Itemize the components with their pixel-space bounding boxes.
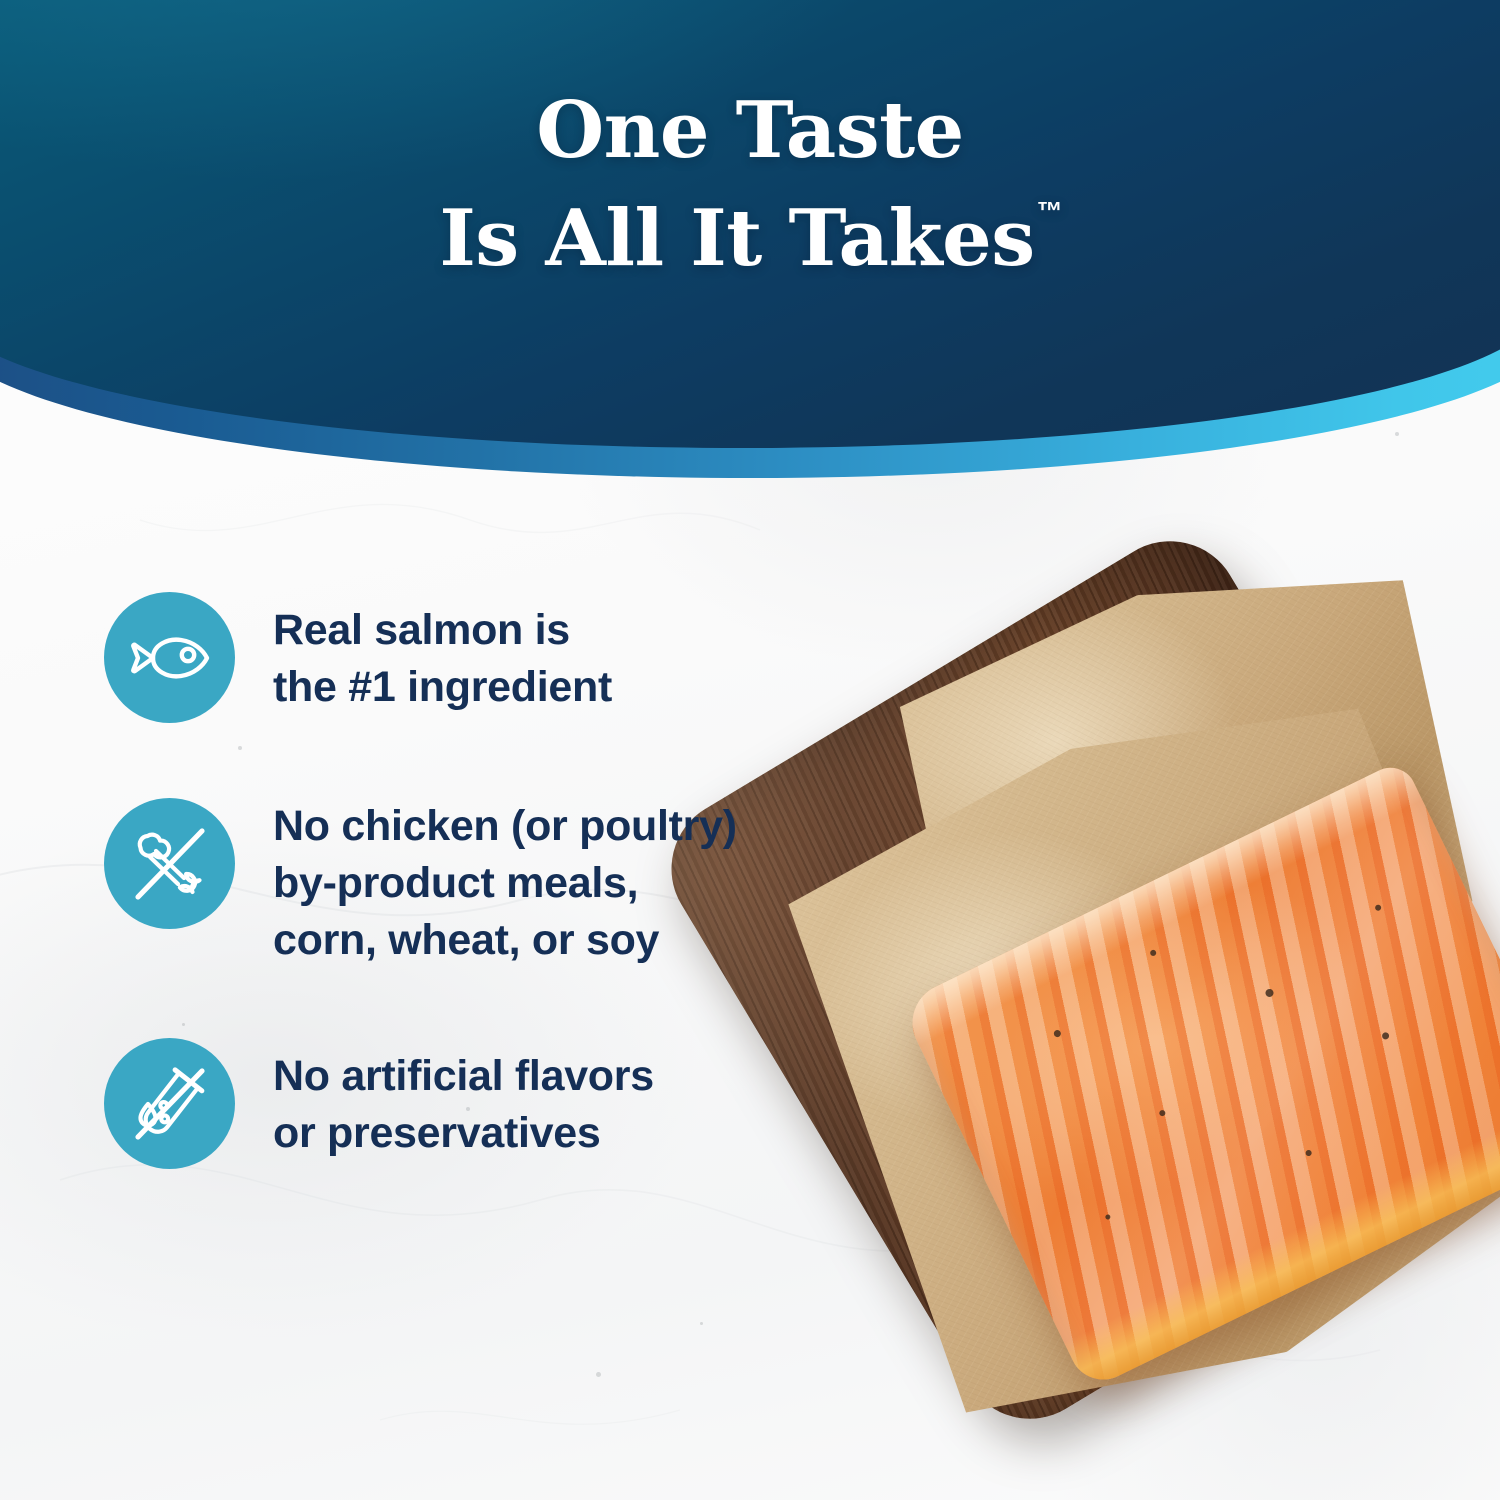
headline-line-2-wrap: Is All It Takes™ [439,180,1060,288]
benefit-item-no-chicken: No chicken (or poultry) by-product meals… [104,798,737,969]
marble-speck [182,1023,185,1026]
marble-speck [1395,432,1399,436]
benefit-text-no-artificial: No artificial flavors or preservatives [273,1038,654,1162]
pepper-fleck [1158,1109,1166,1117]
headline-line-2: Is All It Takes [439,193,1034,284]
pepper-fleck [1381,1031,1390,1040]
trademark-symbol: ™ [1037,196,1063,226]
product-photo [740,560,1500,1500]
benefit-item-salmon: Real salmon is the #1 ingredient [104,592,612,723]
benefit-item-no-artificial: No artificial flavors or preservatives [104,1038,654,1169]
benefit-text-no-chicken: No chicken (or poultry) by-product meals… [273,798,737,969]
pepper-fleck [1149,949,1157,957]
headline-line-1: One Taste [0,82,1500,180]
page-title: One Taste Is All It Takes™ [0,82,1500,288]
no-test-tube-icon [104,1038,235,1169]
pepper-fleck [1264,988,1275,999]
pepper-fleck [1305,1149,1313,1157]
marble-speck [596,1372,601,1377]
benefit-text-salmon: Real salmon is the #1 ingredient [273,592,612,716]
pepper-fleck [1374,904,1382,912]
marble-speck [238,746,242,750]
pepper-fleck [1105,1214,1112,1221]
fish-icon [104,592,235,723]
no-bone-icon [104,798,235,929]
pepper-fleck [1053,1029,1062,1038]
marble-speck [700,1322,703,1325]
product-feature-banner: One Taste Is All It Takes™ [0,0,1500,1500]
